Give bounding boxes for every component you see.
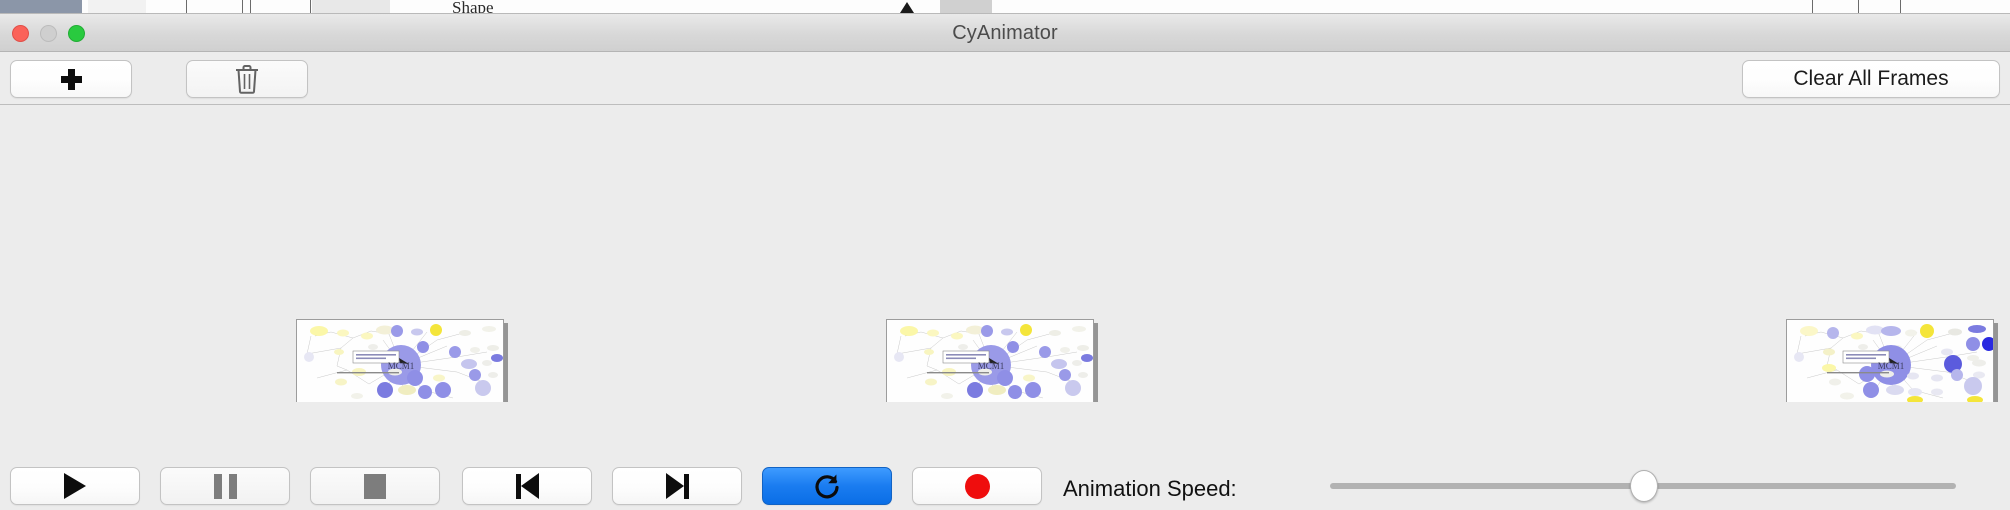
- bg-tick: [250, 0, 251, 14]
- frame-toolbar: Clear All Frames: [0, 52, 2010, 105]
- timeline-frame-2[interactable]: MCM1: [886, 319, 1094, 402]
- window-title: CyAnimator: [0, 22, 2010, 45]
- playback-control-bar: Animation Speed:: [0, 461, 2010, 510]
- bg-tick: [1900, 0, 1901, 14]
- record-button[interactable]: [912, 467, 1042, 505]
- skip-next-button[interactable]: [612, 467, 742, 505]
- loop-toggle-button[interactable]: [762, 467, 892, 505]
- bg-tick: [1812, 0, 1813, 14]
- delete-frame-button[interactable]: [186, 60, 308, 98]
- plus-icon: [61, 69, 82, 90]
- timeline-frame-3[interactable]: MCM1: [1786, 319, 1994, 402]
- clear-all-frames-button[interactable]: Clear All Frames: [1742, 60, 2000, 98]
- stop-button[interactable]: [310, 467, 440, 505]
- play-icon: [64, 473, 86, 499]
- record-icon: [965, 474, 990, 499]
- slider-thumb[interactable]: [1630, 470, 1658, 502]
- add-frame-button[interactable]: [10, 60, 132, 98]
- bg-chip: [88, 0, 146, 14]
- skip-previous-icon: [516, 473, 539, 499]
- hub-node-label: MCM1: [978, 361, 1005, 371]
- play-button[interactable]: [10, 467, 140, 505]
- skip-next-icon: [666, 473, 689, 499]
- hub-node-label: MCM1: [1878, 361, 1905, 371]
- network-thumbnail: MCM1: [887, 320, 1094, 402]
- skip-previous-button[interactable]: [462, 467, 592, 505]
- bg-marker-icon: [900, 2, 914, 13]
- bg-chip: [940, 0, 992, 14]
- bg-chip: [312, 0, 390, 14]
- window-titlebar: CyAnimator: [0, 14, 2010, 52]
- network-thumbnail: MCM1: [297, 320, 504, 402]
- stop-icon: [364, 474, 386, 499]
- bg-tick: [242, 0, 243, 14]
- clear-all-frames-label: Clear All Frames: [1793, 67, 1948, 91]
- bg-tick: [186, 0, 187, 14]
- bg-tick: [310, 0, 311, 14]
- background-window-strip: Shape: [0, 0, 2010, 14]
- hub-node-label: MCM1: [388, 361, 415, 371]
- pause-button[interactable]: [160, 467, 290, 505]
- trash-icon: [234, 64, 260, 94]
- bg-tick: [1858, 0, 1859, 14]
- cyanimator-window: CyAnimator Clear All Frames: [0, 14, 2010, 510]
- bg-window-label: Shape: [452, 0, 494, 14]
- animation-speed-slider[interactable]: [1330, 483, 1956, 489]
- bg-chip: [0, 0, 82, 14]
- timeline-panel[interactable]: MCM1: [0, 105, 2010, 402]
- loop-icon: [813, 472, 841, 500]
- timeline-frame-1[interactable]: MCM1: [296, 319, 504, 402]
- pause-icon: [214, 474, 237, 499]
- animation-speed-label: Animation Speed:: [1063, 476, 1237, 502]
- network-thumbnail: MCM1: [1787, 320, 1994, 402]
